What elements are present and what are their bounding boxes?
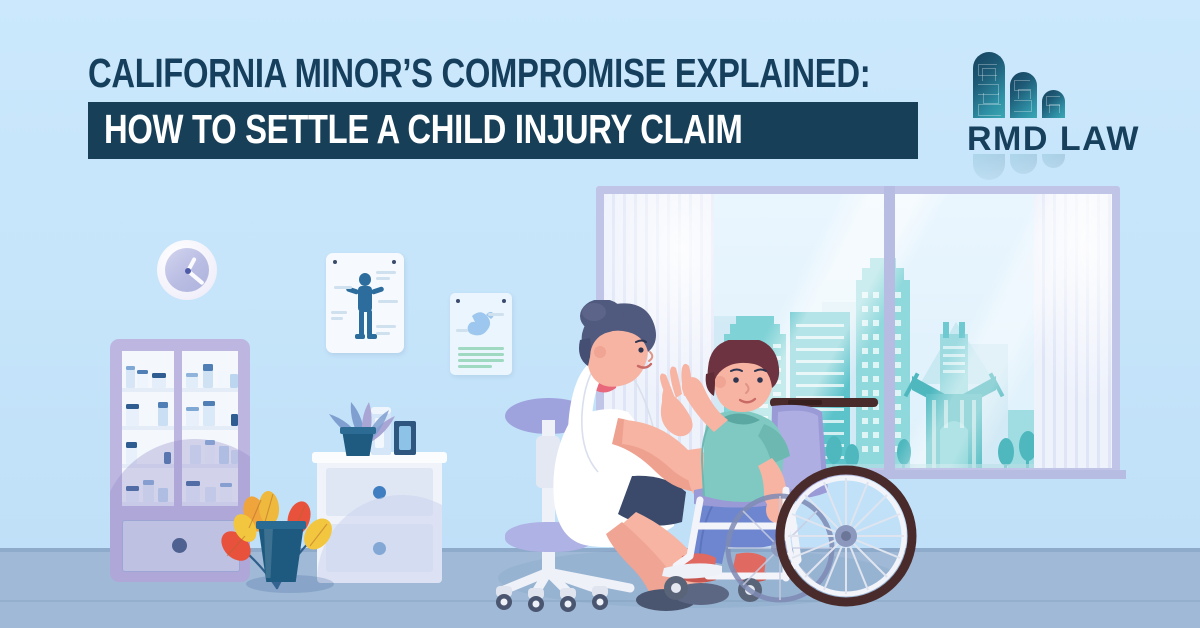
headline-line-1: CALIFORNIA MINOR’S COMPROMISE EXPLAINED:	[88, 52, 744, 95]
rmd-law-logo[interactable]: RMD LAW	[965, 50, 1145, 160]
poster-annotation	[331, 311, 347, 314]
poster-annotation	[378, 300, 398, 303]
anatomy-foot-right	[367, 334, 377, 339]
palm-pot-rim	[340, 427, 376, 434]
anatomy-torso	[358, 286, 372, 312]
logo-circuit-line	[1018, 89, 1031, 99]
poster-annotation	[376, 325, 396, 328]
logo-reflection	[965, 154, 1145, 194]
wheelchair-wheel-near	[780, 470, 912, 602]
poster-annotation	[376, 277, 390, 280]
poster-annotation	[331, 317, 343, 320]
headline-line-2-box: HOW TO SETTLE A CHILD INJURY CLAIM	[88, 102, 918, 159]
logo-circuit-line	[1049, 104, 1060, 113]
logo-circuit-line	[983, 93, 999, 104]
anatomy-leg-left	[359, 310, 364, 336]
poster-text-line	[458, 365, 492, 368]
poster-pin	[392, 260, 396, 264]
anatomy-poster[interactable]	[326, 253, 404, 353]
headline-line-2: HOW TO SETTLE A CHILD INJURY CLAIM	[104, 109, 742, 150]
clock-center-pin	[185, 268, 191, 274]
poster-annotation	[334, 286, 352, 289]
poster-annotation	[456, 329, 468, 332]
child-in-wheelchair	[660, 340, 960, 628]
logo-circuit-line	[1014, 100, 1032, 112]
poster-annotation	[376, 271, 396, 274]
logo-circuit-line	[978, 104, 1001, 116]
poster-annotation	[376, 332, 390, 335]
anatomy-foot-left	[355, 334, 365, 339]
logo-pillar-3	[1042, 90, 1065, 118]
poster-pin	[333, 260, 337, 264]
anatomy-arm-right	[371, 286, 385, 295]
anatomy-leg-right	[367, 310, 372, 336]
headline-block: CALIFORNIA MINOR’S COMPROMISE EXPLAINED:…	[88, 52, 908, 159]
logo-circuit-line	[982, 68, 996, 81]
logo-pillar-2	[1010, 72, 1037, 118]
flower-vase-rim	[256, 521, 306, 529]
logo-pillar-1	[973, 52, 1005, 118]
anatomy-head	[359, 273, 371, 286]
banner-canvas: CALIFORNIA MINOR’S COMPROMISE EXPLAINED:…	[0, 0, 1200, 628]
